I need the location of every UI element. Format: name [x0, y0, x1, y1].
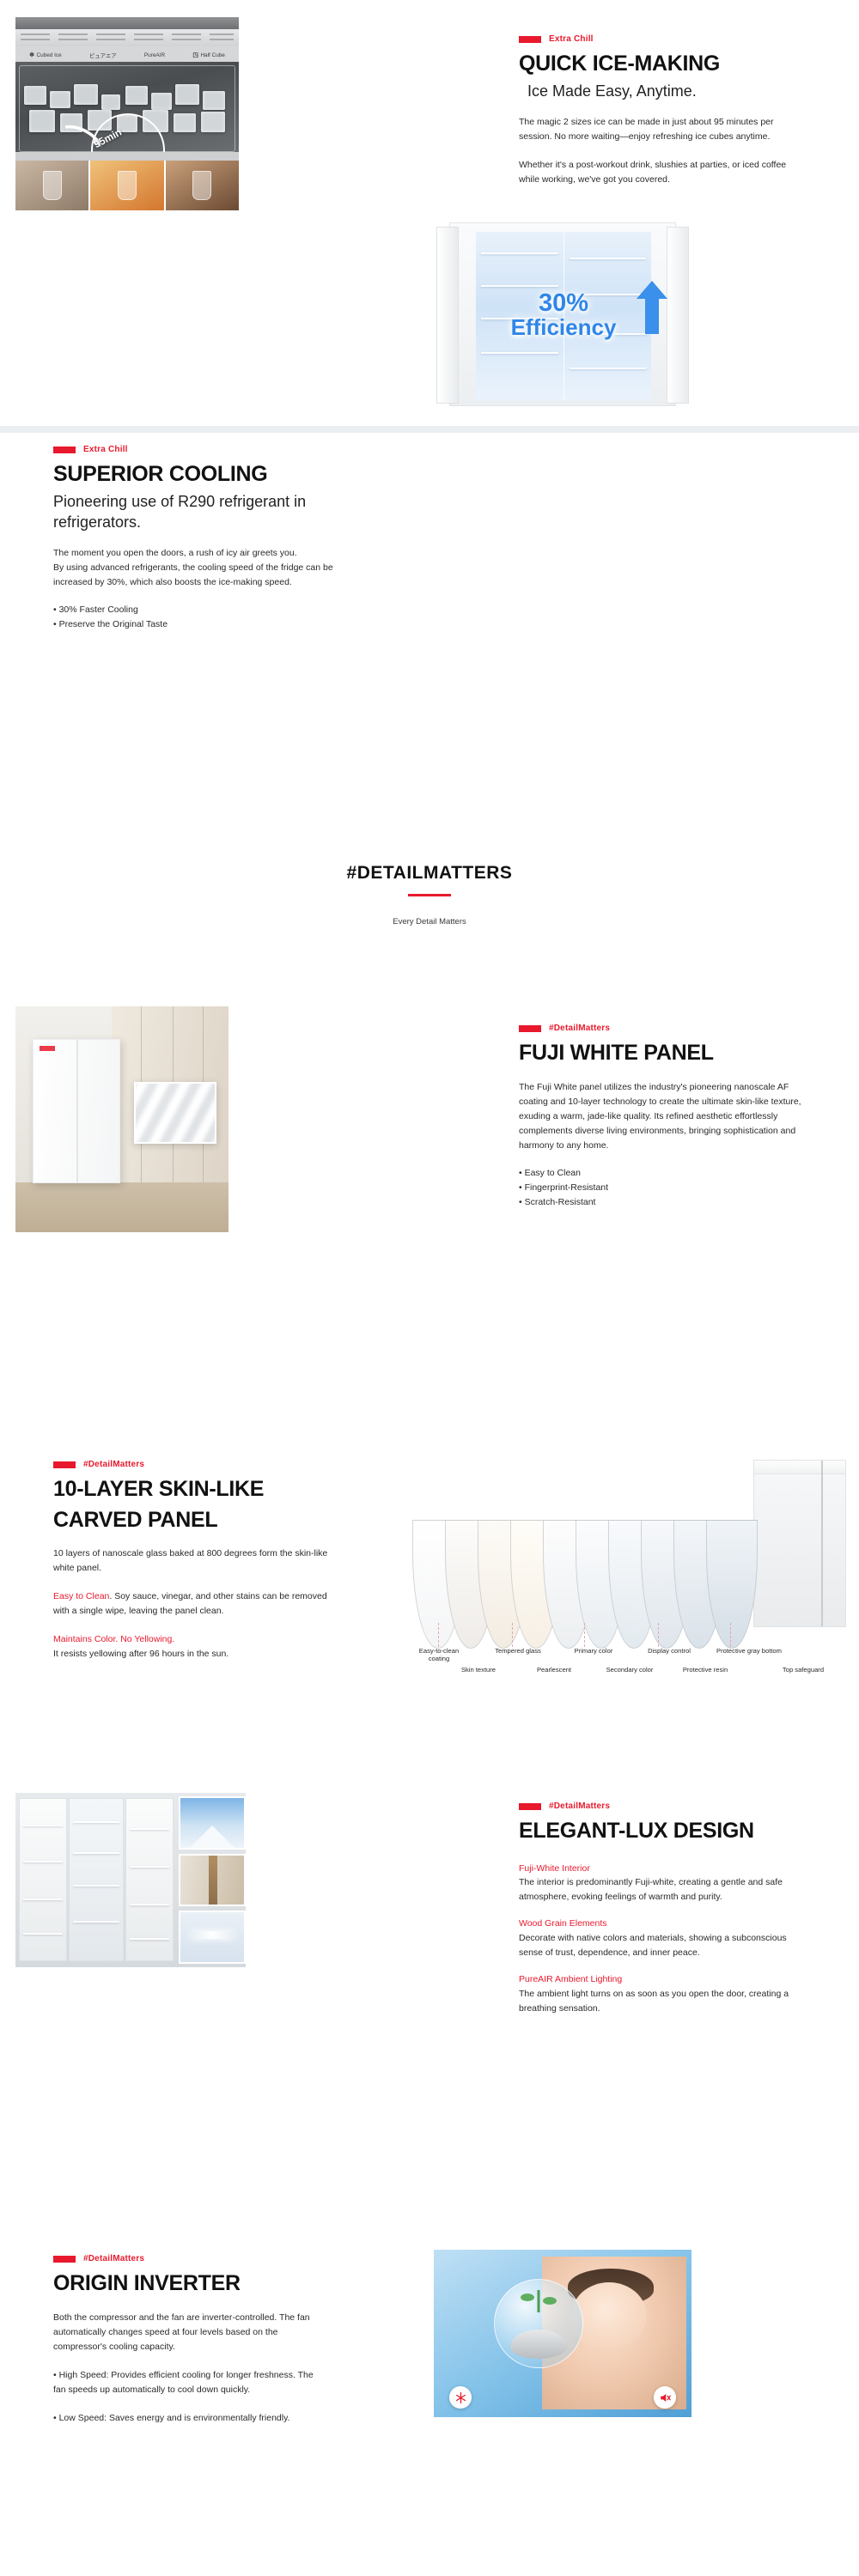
ice-subtitle: Ice Made Easy, Anytime. — [519, 81, 802, 101]
eyebrow-extra-chill-cooling: Extra Chill — [53, 445, 337, 454]
fridge-door-split — [76, 1040, 78, 1182]
detail-matters-title: #DETAILMATTERS — [0, 863, 859, 884]
feature-name: Wood Grain Elements — [519, 1917, 802, 1931]
tile-wood-grain — [179, 1854, 246, 1907]
eyebrow-bar-icon — [53, 1461, 76, 1468]
ice-feature-labels: ❄Cubed Ice ピュアエア PureAIR ◳Half Cube — [15, 48, 239, 62]
eyebrow-detail-matters-fuji: #DetailMatters — [519, 1024, 802, 1033]
eyebrow-label: #DetailMatters — [83, 2254, 144, 2263]
list-item: • Fingerprint-Resistant — [519, 1181, 802, 1195]
layer-label-9: Protective gray bottom — [713, 1647, 785, 1655]
mute-speaker-icon — [654, 2386, 676, 2409]
list-item: • Scratch-Resistant — [519, 1195, 802, 1210]
elegant-feature-1: Fuji-White Interior The interior is pred… — [519, 1862, 802, 1905]
cooling-title: SUPERIOR COOLING — [53, 462, 337, 488]
feature-name: Fuji-White Interior — [519, 1862, 802, 1876]
detail-matters-header: #DETAILMATTERS Every Detail Matters — [0, 863, 859, 927]
eyebrow-detail-matters-elegant: #DetailMatters — [519, 1801, 802, 1811]
feature-text: The interior is predominantly Fuji-white… — [519, 1875, 802, 1905]
cooling-bullet-list: • 30% Faster Cooling • Preserve the Orig… — [53, 603, 337, 632]
layer-label-5: Primary color — [564, 1647, 624, 1655]
carved-title-line1: 10-LAYER SKIN-LIKE — [53, 1477, 328, 1503]
fuji-title: FUJI WHITE PANEL — [519, 1041, 802, 1066]
efficiency-label: Efficiency — [456, 316, 671, 338]
tile-ambient-lighting — [179, 1911, 246, 1964]
carved-paragraph-3: Maintains Color. No Yellowing.It resists… — [53, 1632, 328, 1662]
layer-label-6: Secondary color — [600, 1666, 660, 1674]
brand-badge — [40, 1046, 55, 1051]
layer-label-7: Display control — [639, 1647, 699, 1655]
inverter-title: ORIGIN INVERTER — [53, 2271, 328, 2297]
lifestyle-thumbnails — [15, 161, 239, 210]
detail-matters-rule — [408, 894, 451, 896]
elegant-text-block: #DetailMatters ELEGANT-LUX DESIGN Fuji-W… — [519, 1801, 802, 2016]
ice-making-photo: ❄Cubed Ice ピュアエア PureAIR ◳Half Cube 95mi… — [15, 17, 239, 210]
layer-label-3: Tempered glass — [488, 1647, 548, 1655]
fridge-vent — [15, 29, 239, 46]
inverter-paragraph: Both the compressor and the fan are inve… — [53, 2311, 328, 2354]
eyebrow-label: #DetailMatters — [549, 1024, 610, 1033]
wood-stripe — [209, 1856, 217, 1905]
list-item: • Easy to Clean — [519, 1166, 802, 1181]
carved-paragraph-3-text: It resists yellowing after 96 hours in t… — [53, 1649, 228, 1659]
ambient-light-bar — [191, 1931, 234, 1939]
thumb-lemon-water — [15, 161, 90, 210]
cooling-fridge-photo: 30% Efficiency — [434, 217, 691, 421]
cabinet-split — [821, 1461, 823, 1626]
eyebrow-extra-chill-ice: Extra Chill — [519, 34, 802, 44]
feature-text: The ambient light turns on as soon as yo… — [519, 1987, 802, 2016]
layer-sheets — [412, 1485, 782, 1649]
silk-texture — [134, 1082, 216, 1144]
elegant-feature-2: Wood Grain Elements Decorate with native… — [519, 1917, 802, 1960]
list-item: • Preserve the Original Taste — [53, 617, 337, 632]
inverter-text-block: #DetailMatters ORIGIN INVERTER Both the … — [53, 2254, 328, 2426]
ice-paragraph-1: The magic 2 sizes ice can be made in jus… — [519, 115, 802, 144]
inverter-lifestyle-photo — [434, 2250, 691, 2417]
eyebrow-bar-icon — [53, 447, 76, 453]
cabinet-top — [754, 1461, 845, 1474]
eyebrow-bar-icon — [519, 1803, 541, 1810]
plant-stem — [538, 2290, 540, 2312]
section-divider-band — [0, 426, 859, 433]
eyebrow-detail-matters-carved: #DetailMatters — [53, 1460, 328, 1469]
ice-paragraph-2: Whether it's a post-workout drink, slush… — [519, 158, 802, 187]
eyebrow-detail-matters-inverter: #DetailMatters — [53, 2254, 328, 2263]
kitchen-scene-photo — [15, 1006, 228, 1232]
glass-orb-graphic — [494, 2279, 583, 2368]
carved-text-block: #DetailMatters 10-LAYER SKIN-LIKE CARVED… — [53, 1460, 328, 1662]
eyebrow-label: Extra Chill — [83, 445, 128, 454]
fuji-bullet-list: • Easy to Clean • Fingerprint-Resistant … — [519, 1166, 802, 1210]
eyebrow-label: #DetailMatters — [83, 1460, 144, 1469]
fuji-paragraph: The Fuji White panel utilizes the indust… — [519, 1080, 802, 1153]
interior-door-left — [19, 1798, 67, 1961]
carved-paragraph-2: Easy to Clean. Soy sauce, vinegar, and o… — [53, 1589, 328, 1619]
interior-main-compartment — [69, 1798, 124, 1961]
kitchen-fridge — [33, 1039, 120, 1183]
thumb-cocktail — [90, 161, 165, 210]
cooling-text-block: Extra Chill SUPERIOR COOLING Pioneering … — [53, 445, 337, 632]
label-cubed-ice: ❄Cubed Ice — [29, 52, 62, 58]
layer-label-2: Skin texture — [448, 1666, 509, 1674]
label-pureair: PureAIR — [144, 52, 165, 58]
fabric-swatch-inset — [134, 1082, 216, 1144]
feature-name: PureAIR Ambient Lighting — [519, 1972, 802, 1987]
label-pureair-jp: ピュアエア — [89, 52, 117, 59]
efficiency-overlay: 30% Efficiency — [456, 291, 671, 338]
eyebrow-label: #DetailMatters — [549, 1801, 610, 1811]
cooling-paragraph-2: By using advanced refrigerants, the cool… — [53, 561, 337, 590]
mount-fuji-icon — [190, 1826, 235, 1848]
interior-photo — [15, 1793, 246, 1967]
ten-layer-diagram: Easy-to-clean coating Skin texture Tempe… — [412, 1451, 846, 1747]
carved-highlight-1: Easy to Clean — [53, 1591, 109, 1601]
eyebrow-bar-icon — [519, 1025, 541, 1032]
layer-label-8: Protective resin — [675, 1666, 735, 1674]
label-half-cube: ◳Half Cube — [192, 52, 225, 58]
eyebrow-bar-icon — [53, 2256, 76, 2263]
elegant-title: ELEGANT-LUX DESIGN — [519, 1819, 802, 1844]
inverter-bullet-1: • High Speed: Provides efficient cooling… — [53, 2368, 328, 2397]
interior-door-right — [125, 1798, 174, 1961]
carved-paragraph-1: 10 layers of nanoscale glass baked at 80… — [53, 1546, 328, 1576]
no-frost-icon — [449, 2386, 472, 2409]
ice-title: QUICK ICE-MAKING — [519, 52, 802, 77]
eyebrow-bar-icon — [519, 36, 541, 43]
inverter-bullet-2: • Low Speed: Saves energy and is environ… — [53, 2411, 328, 2426]
ice-bin: 95min — [15, 62, 239, 152]
carved-title-line2: CARVED PANEL — [53, 1508, 328, 1534]
fuji-text-block: #DetailMatters FUJI WHITE PANEL The Fuji… — [519, 1024, 802, 1210]
kitchen-floor — [15, 1182, 228, 1232]
layer-label-4: Pearlescent — [524, 1666, 584, 1674]
thumb-iced-coffee — [166, 161, 239, 210]
fridge-top-bar — [15, 17, 239, 29]
carved-highlight-2: Maintains Color. No Yellowing. — [53, 1634, 174, 1644]
feature-tiles — [179, 1793, 246, 1967]
tile-fuji-white-interior — [179, 1796, 246, 1850]
coin-stack — [510, 2330, 567, 2359]
eyebrow-label: Extra Chill — [549, 34, 594, 44]
cooling-subtitle: Pioneering use of R290 refrigerant in re… — [53, 491, 337, 533]
efficiency-value: 30% — [456, 291, 671, 316]
detail-matters-subtitle: Every Detail Matters — [0, 917, 859, 927]
cooling-paragraph-1: The moment you open the doors, a rush of… — [53, 546, 337, 561]
feature-text: Decorate with native colors and material… — [519, 1931, 802, 1960]
elegant-feature-3: PureAIR Ambient Lighting The ambient lig… — [519, 1972, 802, 2016]
layer-label-10: Top safeguard — [773, 1666, 833, 1674]
layer-label-1: Easy-to-clean coating — [409, 1647, 469, 1663]
ice-making-text-block: Extra Chill QUICK ICE-MAKING Ice Made Ea… — [519, 34, 802, 187]
list-item: • 30% Faster Cooling — [53, 603, 337, 617]
